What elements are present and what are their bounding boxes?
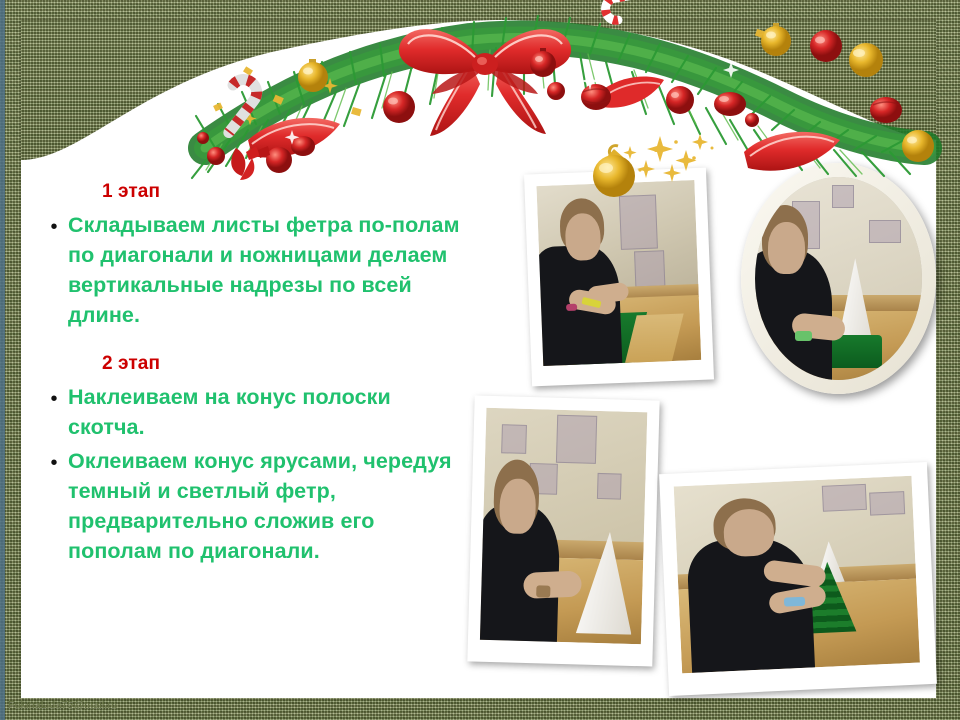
bullet-icon: • bbox=[40, 384, 68, 414]
photo-cutting-felt-image bbox=[536, 180, 701, 366]
photo-cone-oval-image bbox=[755, 177, 922, 380]
card-wavy-top-mask bbox=[21, 20, 936, 190]
stage-2-bullet-text-1: Наклеиваем на конус полоски скотча. bbox=[68, 382, 460, 442]
watermark-email: FukinaLida75@mail.ru bbox=[8, 699, 117, 711]
instruction-text-column: 1 этап • Складываем листы фетра по-полам… bbox=[40, 180, 460, 570]
bullet-icon: • bbox=[40, 212, 68, 242]
slide-canvas: 1 этап • Складываем листы фетра по-полам… bbox=[0, 0, 960, 720]
bullet-icon: • bbox=[40, 448, 68, 478]
photo-cutting-felt[interactable] bbox=[524, 168, 714, 387]
left-edge-strip bbox=[0, 0, 5, 720]
stage-1-bullet-text: Складываем листы фетра по-полам по диаго… bbox=[68, 210, 460, 330]
photo-finished-tree[interactable] bbox=[659, 462, 937, 696]
list-item: • Складываем листы фетра по-полам по диа… bbox=[40, 210, 460, 330]
stage-2-bullet-text-2: Оклеиваем конус ярусами, чередуя темный … bbox=[68, 446, 460, 566]
stage-2-heading: 2 этап bbox=[102, 352, 460, 376]
list-item: • Наклеиваем на конус полоски скотча. bbox=[40, 382, 460, 442]
photo-taping-cone[interactable] bbox=[467, 395, 659, 666]
list-item: • Оклеиваем конус ярусами, чередуя темны… bbox=[40, 446, 460, 566]
photo-taping-cone-image bbox=[480, 408, 647, 644]
photo-finished-tree-image bbox=[674, 476, 920, 674]
photo-cone-oval[interactable] bbox=[741, 163, 936, 394]
stage-1-heading: 1 этап bbox=[102, 180, 460, 204]
